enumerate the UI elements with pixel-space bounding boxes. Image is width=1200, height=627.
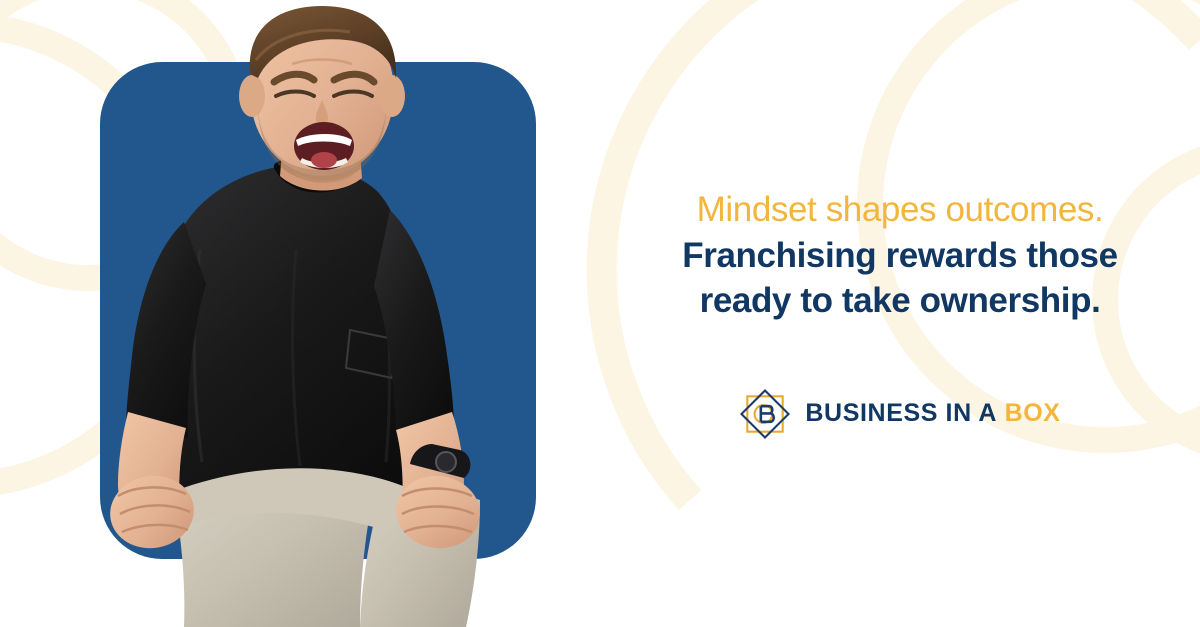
tshirt — [159, 166, 421, 492]
business-in-a-box-monogram-icon — [739, 388, 791, 440]
marketing-banner: Mindset shapes outcomes. Franchising rew… — [0, 0, 1200, 627]
headline: Mindset shapes outcomes. Franchising rew… — [630, 187, 1170, 324]
watch-face — [436, 452, 456, 472]
logo-wordmark-accent: BOX — [1005, 399, 1061, 427]
tongue — [311, 152, 337, 168]
ear-left — [239, 75, 265, 117]
headline-line-2: Franchising rewards those — [630, 233, 1170, 279]
headline-line-3: ready to take ownership. — [630, 278, 1170, 324]
logo-letter-b — [761, 406, 774, 422]
subject-figure — [104, 6, 484, 627]
brand-logo-lockup: BUSINESS IN A BOX — [739, 388, 1060, 440]
ear-right — [379, 75, 405, 117]
logo-wordmark-primary: BUSINESS IN A — [805, 399, 997, 427]
headline-line-1: Mindset shapes outcomes. — [630, 187, 1170, 233]
content-column: Mindset shapes outcomes. Franchising rew… — [600, 0, 1200, 627]
logo-wordmark: BUSINESS IN A BOX — [805, 401, 1060, 426]
subject-photo — [60, 0, 580, 627]
